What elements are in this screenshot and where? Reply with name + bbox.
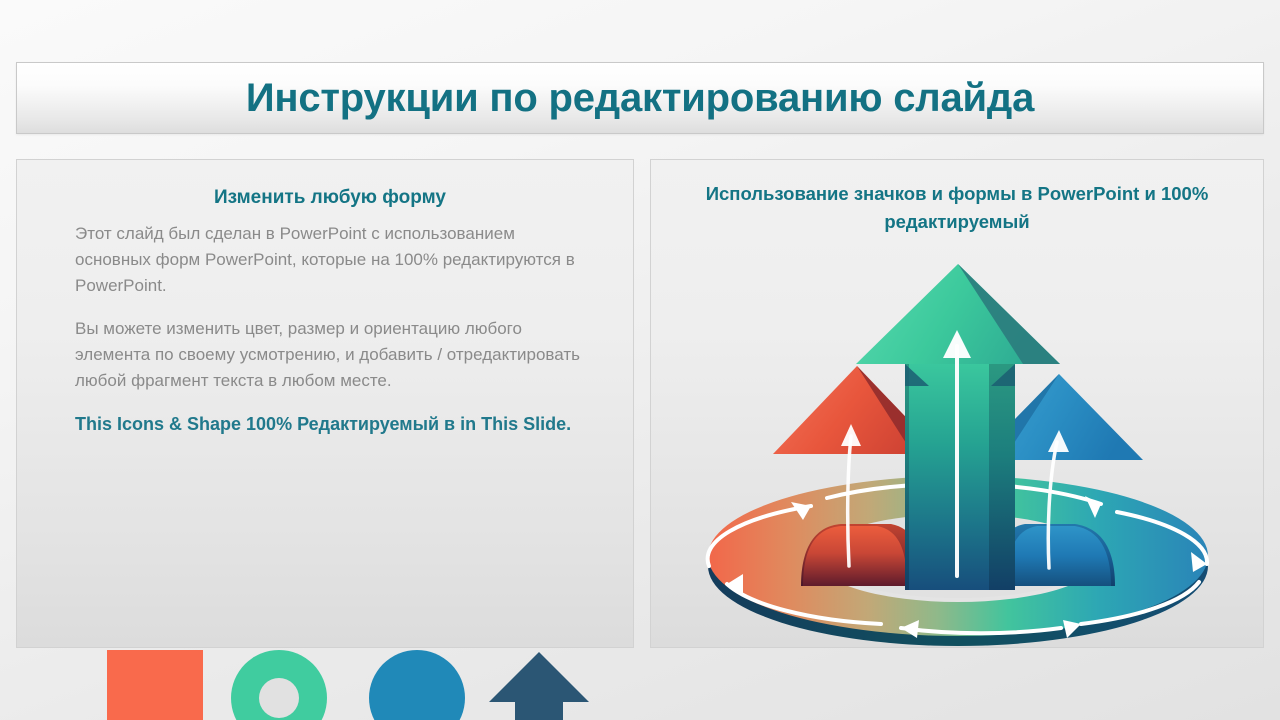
growth-arrows-illustration <box>651 246 1265 646</box>
right-panel-heading: Использование значков и формы в PowerPoi… <box>691 180 1223 236</box>
editable-shapes-row <box>91 650 581 720</box>
arrow-up-icon <box>487 650 591 720</box>
page-title: Инструкции по редактированию слайда <box>246 78 1034 118</box>
left-panel-text-block: Изменить любую форму Этот слайд был сдел… <box>17 160 633 437</box>
left-panel-emphasis-text: This Icons & Shape 100% Редактируемый в … <box>75 411 585 437</box>
right-content-panel: Использование значков и формы в PowerPoi… <box>650 159 1264 648</box>
right-panel-text-block: Использование значков и формы в PowerPoi… <box>651 160 1263 236</box>
slide-title-bar: Инструкции по редактированию слайда <box>16 62 1264 134</box>
donut-shape[interactable] <box>231 650 327 720</box>
left-panel-paragraph-1: Этот слайд был сделан в PowerPoint с исп… <box>75 221 585 300</box>
square-shape[interactable] <box>107 650 203 720</box>
circle-shape[interactable] <box>369 650 465 720</box>
growth-arrows-svg <box>651 246 1265 646</box>
left-content-panel: Изменить любую форму Этот слайд был сдел… <box>16 159 634 648</box>
left-panel-paragraph-2: Вы можете изменить цвет, размер и ориент… <box>75 316 585 395</box>
arrow-up-shape[interactable] <box>487 650 591 720</box>
left-panel-heading: Изменить любую форму <box>75 186 585 211</box>
